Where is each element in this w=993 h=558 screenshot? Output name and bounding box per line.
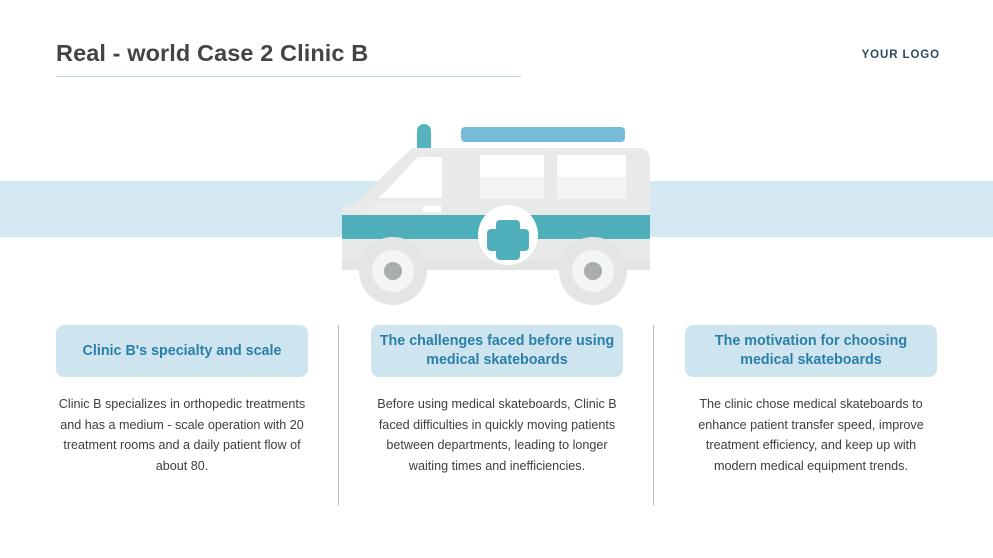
siren-light-icon (417, 124, 431, 148)
front-wheel (359, 237, 427, 305)
column-divider-2 (653, 325, 654, 505)
column-2: The challenges faced before using medica… (371, 325, 623, 476)
column-3: The motivation for choosing medical skat… (685, 325, 937, 476)
column-1: Clinic B's specialty and scale Clinic B … (56, 325, 308, 476)
slide-canvas: Real - world Case 2 Clinic B YOUR LOGO (0, 0, 993, 558)
content-columns: Clinic B's specialty and scale Clinic B … (0, 325, 993, 515)
logo-placeholder: YOUR LOGO (862, 49, 940, 61)
column-2-heading: The challenges faced before using medica… (371, 325, 623, 377)
rear-window-1 (480, 155, 544, 199)
column-3-heading: The motivation for choosing medical skat… (685, 325, 937, 377)
page-title: Real - world Case 2 Clinic B (56, 40, 368, 67)
rear-window-2 (557, 155, 626, 199)
medical-cross-badge (478, 205, 538, 265)
ambulance-illustration (330, 110, 670, 310)
column-3-body: The clinic chose medical skateboards to … (685, 394, 937, 476)
title-underline-rule (56, 76, 521, 77)
column-1-heading: Clinic B's specialty and scale (56, 325, 308, 377)
cab-roof (412, 148, 442, 154)
column-divider-1 (338, 325, 339, 505)
rear-wheel (559, 237, 627, 305)
column-1-body: Clinic B specializes in orthopedic treat… (56, 394, 308, 476)
column-2-body: Before using medical skateboards, Clinic… (371, 394, 623, 476)
headlight (423, 206, 441, 212)
roof-rack (461, 127, 625, 142)
